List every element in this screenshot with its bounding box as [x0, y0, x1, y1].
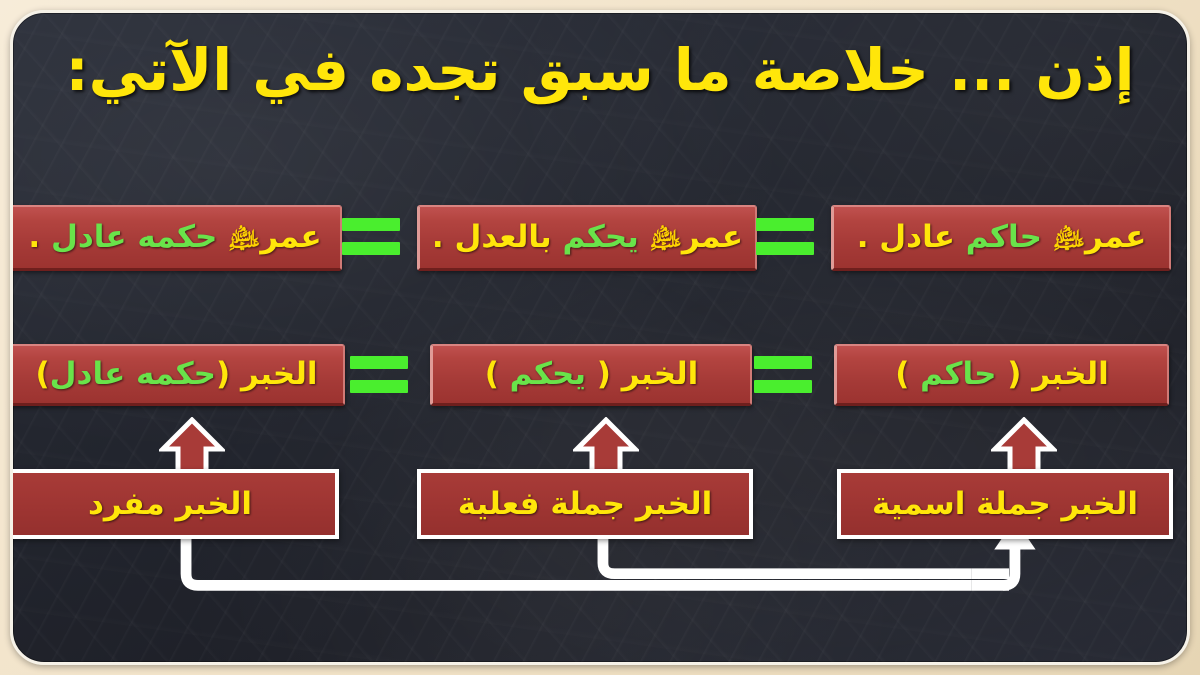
- khabar-box-hukmuhu-adil-text: الخبر (حكمه عادل): [35, 359, 317, 390]
- seg-yellow-2: عادل .: [857, 219, 955, 255]
- example-box-jumla-ismiyya-text: عمر﵇ حكمه عادل .: [28, 222, 321, 253]
- page-title: إذن ... خلاصة ما سبق تجده في الآتي:: [13, 37, 1187, 104]
- khabar-box-yahkum[interactable]: الخبر ( يحكم ): [430, 344, 752, 406]
- seg-green: حكمه عادل: [51, 219, 228, 255]
- example-box-mufrad-text: عمر﵇ حاكم عادل .: [857, 222, 1147, 253]
- seg-yellow-2: ): [485, 356, 510, 392]
- example-box-jumla-filiyya-text: عمر﵇ يحكم بالعدل .: [432, 222, 743, 253]
- type-box-jumla-ismiyya-text: الخبر جملة اسمية: [872, 489, 1138, 520]
- equals-sign-row1-left: [342, 215, 400, 259]
- seg-yellow-2: .: [28, 219, 51, 255]
- khabar-box-hukmuhu-adil[interactable]: الخبر (حكمه عادل): [10, 344, 345, 406]
- khabar-box-hakim[interactable]: الخبر ( حاكم ): [834, 344, 1169, 406]
- honorific-glyph: ﵇: [650, 224, 682, 253]
- example-box-jumla-filiyya[interactable]: عمر﵇ يحكم بالعدل .: [417, 205, 757, 271]
- example-box-jumla-ismiyya[interactable]: عمر﵇ حكمه عادل .: [10, 205, 342, 271]
- type-box-mufrad[interactable]: الخبر مفرد: [10, 469, 339, 539]
- equals-sign-row2-right: [754, 353, 812, 397]
- seg-yellow-2: ): [35, 356, 49, 392]
- seg-yellow-2: بالعدل .: [432, 219, 552, 255]
- slide-frame: إذن ... خلاصة ما سبق تجده في الآتي: عمر﵇…: [0, 0, 1200, 675]
- example-box-mufrad[interactable]: عمر﵇ حاكم عادل .: [831, 205, 1171, 271]
- type-box-jumla-ismiyya[interactable]: الخبر جملة اسمية: [837, 469, 1173, 539]
- khabar-box-hakim-text: الخبر ( حاكم ): [895, 359, 1109, 390]
- seg-green: حاكم: [920, 356, 996, 392]
- honorific-glyph: ﵇: [1053, 224, 1085, 253]
- seg-yellow: الخبر (: [216, 356, 318, 392]
- seg-yellow: عمر: [1085, 219, 1146, 255]
- seg-yellow-2: ): [895, 356, 920, 392]
- seg-green: يحكم: [552, 219, 650, 255]
- type-box-jumla-filiyya[interactable]: الخبر جملة فعلية: [417, 469, 753, 539]
- seg-yellow: الخبر (: [586, 356, 698, 392]
- seg-yellow: عمر: [260, 219, 321, 255]
- seg-green: حاكم: [955, 219, 1053, 255]
- type-box-jumla-filiyya-text: الخبر جملة فعلية: [458, 489, 713, 520]
- equals-sign-row2-left: [350, 353, 408, 397]
- honorific-glyph: ﵇: [228, 224, 260, 253]
- slide-board: إذن ... خلاصة ما سبق تجده في الآتي: عمر﵇…: [10, 10, 1190, 665]
- type-box-mufrad-text: الخبر مفرد: [88, 489, 252, 520]
- seg-green: يحكم: [510, 356, 586, 392]
- equals-sign-row1-right: [756, 215, 814, 259]
- connector-lines: [13, 13, 1187, 662]
- seg-yellow: عمر: [682, 219, 743, 255]
- seg-green: حكمه عادل: [50, 356, 216, 392]
- khabar-box-yahkum-text: الخبر ( يحكم ): [485, 359, 699, 390]
- seg-yellow: الخبر (: [997, 356, 1109, 392]
